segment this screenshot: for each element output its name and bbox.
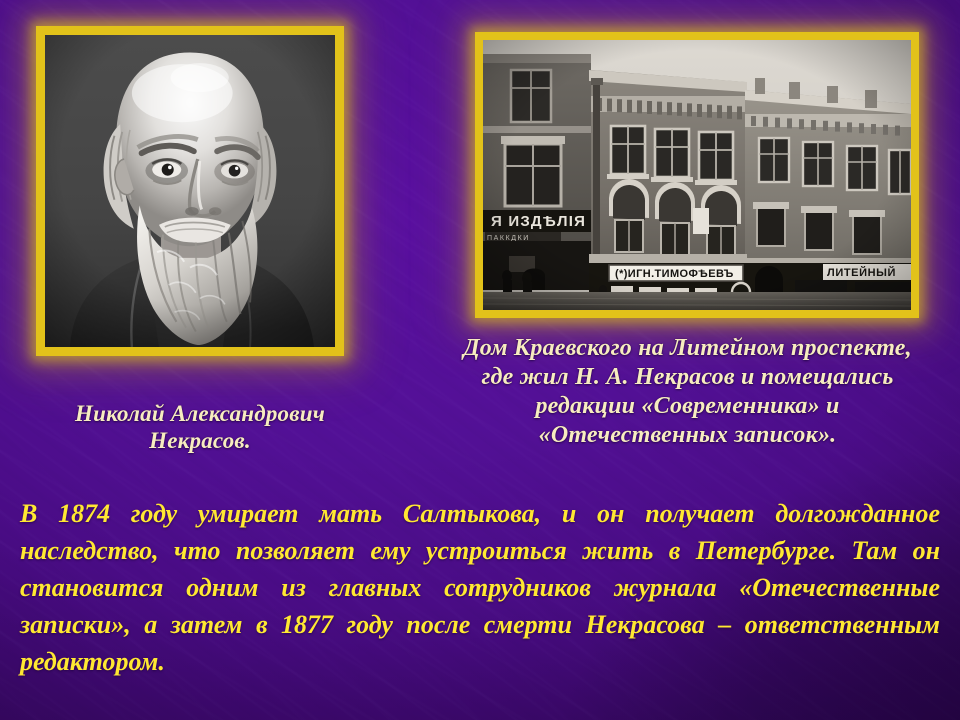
portrait-caption-line-1: Николай Александрович bbox=[10, 400, 390, 427]
building-illustration: Я ИЗДѢЛІЯ ПАККДКИ bbox=[483, 40, 911, 310]
portrait-photo-frame bbox=[36, 26, 344, 356]
building-caption-line-1: Дом Краевского на Литейном проспекте, bbox=[420, 334, 955, 363]
building-photo-frame: Я ИЗДѢЛІЯ ПАККДКИ bbox=[475, 32, 919, 318]
building-caption: Дом Краевского на Литейном проспекте, гд… bbox=[420, 334, 955, 450]
presentation-slide: Николай Александрович Некрасов. bbox=[0, 0, 960, 720]
building-caption-line-4: «Отечественных записок». bbox=[420, 421, 955, 450]
body-paragraph: В 1874 году умирает мать Салтыкова, и он… bbox=[20, 495, 940, 680]
building-photo: Я ИЗДѢЛІЯ ПАККДКИ bbox=[483, 40, 911, 310]
portrait-illustration bbox=[45, 35, 335, 347]
building-caption-line-2: где жил Н. А. Некрасов и помещались bbox=[420, 363, 955, 392]
portrait-photo bbox=[45, 35, 335, 347]
portrait-caption: Николай Александрович Некрасов. bbox=[10, 400, 390, 454]
portrait-caption-line-2: Некрасов. bbox=[10, 427, 390, 454]
building-caption-line-3: редакции «Современника» и bbox=[420, 392, 955, 421]
body-paragraph-text: В 1874 году умирает мать Салтыкова, и он… bbox=[20, 499, 940, 676]
